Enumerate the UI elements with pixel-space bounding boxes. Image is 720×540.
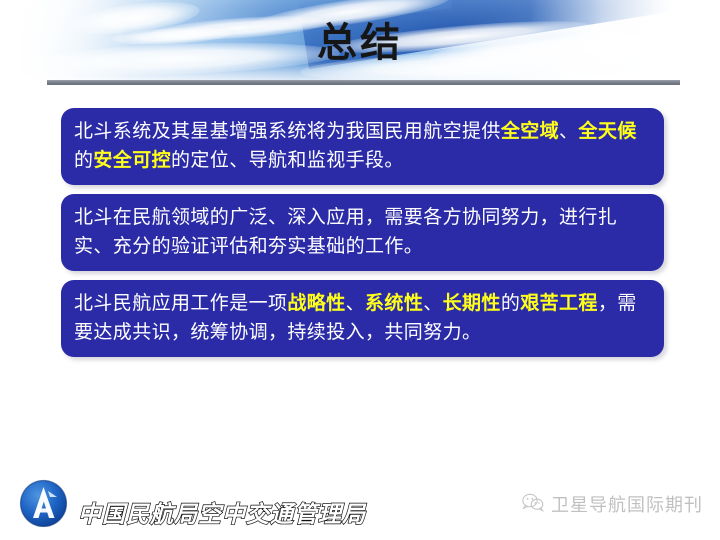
bullet-text-1: 北斗系统及其星基增强系统将为我国民用航空提供全空域、全天候的安全可控的定位、导航… — [74, 117, 651, 175]
body-phrase: 北斗系统及其星基增强系统将为我国民用航空提供 — [74, 120, 501, 142]
body-phrase: 的定位、导航和监视手段。 — [171, 149, 404, 171]
bullet-box-3: 北斗民航应用工作是一项战略性、系统性、长期性的艰苦工程，需要达成共识，统筹协调，… — [61, 280, 664, 357]
footer-organization-name: 中国民航局空中交通管理局 — [78, 495, 366, 529]
watermark-text: 卫星导航国际期刊 — [551, 491, 703, 517]
highlighted-phrase: 安全可控 — [93, 149, 171, 171]
bullet-box-1: 北斗系统及其星基增强系统将为我国民用航空提供全空域、全天候的安全可控的定位、导航… — [61, 108, 664, 185]
body-phrase: 、 — [423, 292, 442, 314]
body-phrase: 、 — [346, 292, 365, 314]
caac-atmb-logo-icon — [17, 477, 70, 530]
highlighted-phrase: 长期性 — [443, 292, 501, 314]
body-phrase: 北斗民航应用工作是一项 — [74, 292, 287, 314]
wechat-icon — [522, 493, 544, 516]
body-phrase: 、 — [559, 120, 578, 142]
body-phrase: 的 — [74, 149, 93, 171]
slide-title: 总结 — [0, 22, 720, 65]
body-phrase: 的 — [501, 292, 520, 314]
highlighted-phrase: 战略性 — [287, 292, 345, 314]
highlighted-phrase: 系统性 — [365, 292, 423, 314]
bullet-box-2: 北斗在民航领域的广泛、深入应用，需要各方协同努力，进行扎实、充分的验证评估和夯实… — [61, 194, 664, 271]
highlighted-phrase: 艰苦工程 — [520, 292, 598, 314]
body-phrase: 北斗在民航领域的广泛、深入应用，需要各方协同努力，进行扎实、充分的验证评估和夯实… — [74, 206, 617, 257]
bullet-box-list: 北斗系统及其星基增强系统将为我国民用航空提供全空域、全天候的安全可控的定位、导航… — [61, 108, 664, 366]
highlighted-phrase: 全空域 — [501, 120, 559, 142]
highlighted-phrase: 全天候 — [578, 120, 636, 142]
watermark: 卫星导航国际期刊 — [522, 491, 703, 517]
title-divider-rule — [47, 80, 680, 85]
bullet-text-3: 北斗民航应用工作是一项战略性、系统性、长期性的艰苦工程，需要达成共识，统筹协调，… — [74, 289, 651, 347]
presentation-slide: 总结 北斗系统及其星基增强系统将为我国民用航空提供全空域、全天候的安全可控的定位… — [0, 0, 720, 540]
bullet-text-2: 北斗在民航领域的广泛、深入应用，需要各方协同努力，进行扎实、充分的验证评估和夯实… — [74, 203, 651, 261]
